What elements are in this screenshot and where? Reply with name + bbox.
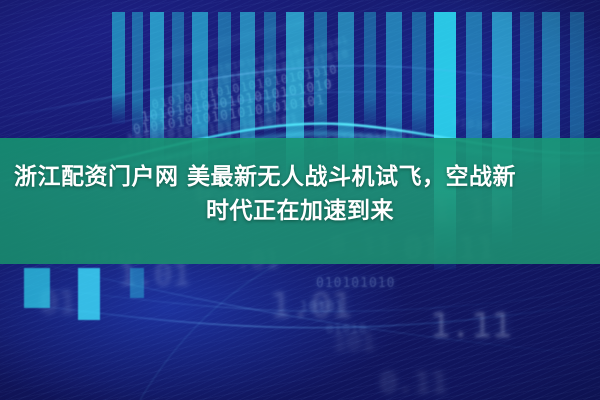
headline-line-2: 时代正在加速到来 [0,194,600,228]
large-binary-digit: 0.11 [380,366,447,399]
accent-bar [24,268,50,308]
accent-bar [78,268,100,320]
accent-bar [130,268,144,298]
headline-text: 浙江配资门户网 美最新无人战斗机试飞，空战新 时代正在加速到来 [0,160,600,228]
large-binary-digit: 1.11 [430,306,512,346]
large-binary-digit: 101 [332,328,375,356]
banner-image: 1010101010101010101010101010101010101010… [0,0,600,400]
headline-line-1: 浙江配资门户网 美最新无人战斗机试飞，空战新 [0,160,600,194]
large-binary-digit: 1.01 [270,286,352,326]
